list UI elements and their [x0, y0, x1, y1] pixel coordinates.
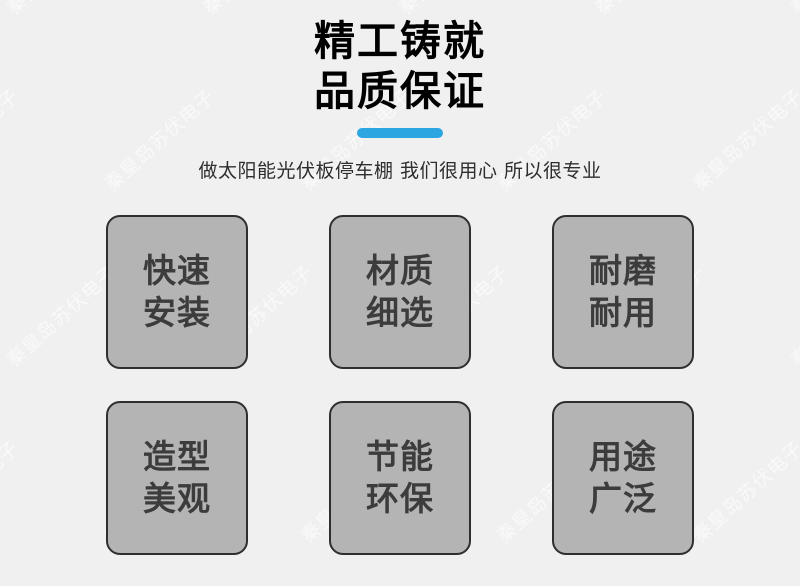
feature-card-label-line-1: 用途 [589, 436, 657, 478]
page-title-line-2: 品质保证 [0, 66, 800, 116]
feature-card-label-line-2: 安装 [143, 292, 211, 334]
watermark-text: 秦皇岛苏伏电子 [686, 434, 800, 548]
feature-card-label-line-2: 细选 [366, 292, 434, 334]
page-subtitle: 做太阳能光伏板停车棚 我们很用心 所以很专业 [0, 156, 800, 183]
watermark-text: 秦皇岛苏伏电子 [0, 434, 24, 548]
promo-banner-page: 秦皇岛苏伏电子秦皇岛苏伏电子秦皇岛苏伏电子秦皇岛苏伏电子秦皇岛苏伏电子秦皇岛苏伏… [0, 0, 800, 586]
feature-card-label-line-2: 广泛 [589, 478, 657, 520]
feature-card-fast-install[interactable]: 快速安装 [106, 215, 248, 369]
feature-card-label-line-2: 耐用 [589, 292, 657, 334]
feature-card-label-line-1: 节能 [366, 436, 434, 478]
divider-bar [357, 128, 443, 138]
feature-card-label-line-1: 快速 [143, 250, 211, 292]
divider [0, 128, 800, 138]
feature-card-energy-saving[interactable]: 节能环保 [329, 401, 471, 555]
feature-card-selected-material[interactable]: 材质细选 [329, 215, 471, 369]
feature-card-label-line-1: 耐磨 [589, 250, 657, 292]
feature-card-label-line-2: 美观 [143, 478, 211, 520]
feature-card-beautiful-design[interactable]: 造型美观 [106, 401, 248, 555]
feature-card-grid: 快速安装材质细选耐磨耐用造型美观节能环保用途广泛 [106, 215, 694, 555]
feature-card-wear-resistant[interactable]: 耐磨耐用 [552, 215, 694, 369]
feature-card-label-line-2: 环保 [366, 478, 434, 520]
watermark-text: 秦皇岛苏伏电子 [784, 258, 800, 372]
feature-card-label-line-1: 材质 [366, 250, 434, 292]
feature-card-label-line-1: 造型 [143, 436, 211, 478]
feature-card-wide-usage[interactable]: 用途广泛 [552, 401, 694, 555]
watermark-text: 秦皇岛苏伏电子 [0, 258, 122, 372]
page-title-line-1: 精工铸就 [0, 16, 800, 66]
header: 精工铸就 品质保证 做太阳能光伏板停车棚 我们很用心 所以很专业 [0, 0, 800, 183]
